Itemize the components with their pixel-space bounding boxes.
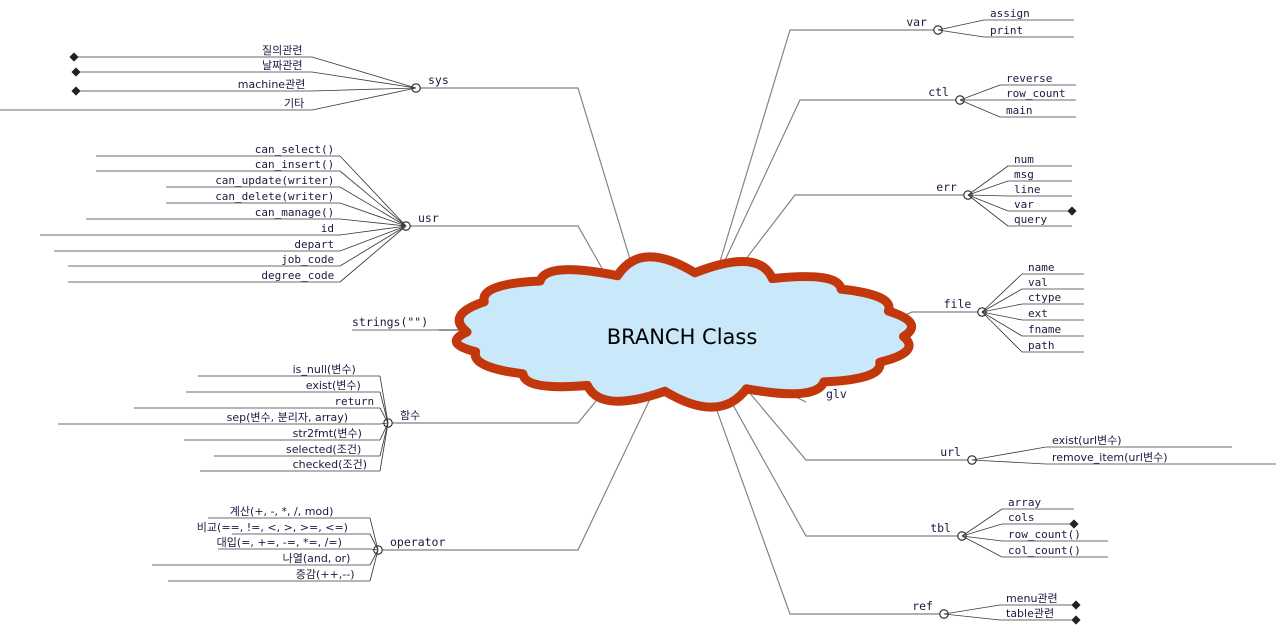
leaf-label-usr-0[interactable]: can_select() [255, 143, 334, 156]
branch-label-usr[interactable]: usr [418, 211, 439, 225]
leaf-label-err-4[interactable]: query [1014, 213, 1047, 226]
branch-label-url[interactable]: url [940, 445, 961, 459]
leaf-connector-sys-3 [312, 88, 416, 110]
leaf-connector-ctl-0 [960, 85, 1000, 100]
leaf-label-ref-1[interactable]: table관련 [1006, 607, 1054, 620]
leaf-connector-ref-1 [944, 614, 1000, 620]
leaf-connector-operator-0 [370, 518, 378, 550]
leaf-label-usr-5[interactable]: id [321, 222, 334, 235]
leaf-label-file-0[interactable]: name [1028, 261, 1055, 274]
leaf-label-tbl-0[interactable]: array [1008, 496, 1041, 509]
leaf-label-err-1[interactable]: msg [1014, 168, 1034, 181]
branch-label-err[interactable]: err [936, 180, 957, 194]
branch-label-strings[interactable]: strings("") [352, 315, 428, 329]
leaf-label-tbl-2[interactable]: row_count() [1008, 528, 1081, 541]
leaf-label-var-0[interactable]: assign [990, 7, 1030, 20]
leaf-connector-usr-8 [340, 226, 406, 282]
leaf-label-url-0[interactable]: exist(url변수) [1052, 434, 1122, 447]
branch-label-ref[interactable]: ref [912, 599, 933, 613]
leaf-connector-usr-7 [340, 226, 406, 266]
leaf-connector-usr-5 [340, 226, 406, 235]
branch-spine-tbl [718, 378, 962, 536]
leaf-connector-tbl-2 [962, 536, 1002, 541]
leaf-connector-var-1 [938, 30, 984, 37]
leaf-connector-func-1 [380, 392, 388, 423]
leaf-connector-usr-6 [340, 226, 406, 251]
leaf-connector-file-2 [982, 304, 1022, 312]
leaf-connector-file-0 [982, 274, 1022, 312]
leaf-endpoint-tbl-1[interactable] [1070, 520, 1078, 528]
leaf-label-file-2[interactable]: ctype [1028, 291, 1061, 304]
leaf-label-operator-2[interactable]: 대입(=, +=, -=, *=, /=) [217, 536, 342, 549]
leaf-connector-err-4 [968, 195, 1008, 226]
leaf-endpoint-ref-0[interactable] [1072, 601, 1080, 609]
leaf-label-sys-0[interactable]: 질의관련 [262, 44, 302, 57]
leaf-connector-tbl-0 [962, 509, 1002, 536]
leaf-label-sys-3[interactable]: 기타 [284, 97, 304, 110]
leaf-label-ref-0[interactable]: menu관련 [1006, 592, 1058, 605]
leaf-label-ctl-1[interactable]: row_count [1006, 87, 1066, 100]
leaf-label-file-3[interactable]: ext [1028, 307, 1048, 320]
leaf-connector-err-0 [968, 166, 1008, 195]
leaf-endpoint-sys-2[interactable] [72, 87, 80, 95]
leaf-label-operator-0[interactable]: 계산(+, -, *, /, mod) [230, 505, 334, 518]
branch-label-file[interactable]: file [944, 297, 972, 311]
leaf-connector-sys-2 [312, 88, 416, 91]
leaf-connector-operator-4 [370, 550, 378, 581]
leaf-connector-url-0 [972, 447, 1046, 460]
leaf-connector-sys-1 [312, 72, 416, 88]
leaf-label-func-1[interactable]: exist(변수) [306, 379, 361, 392]
leaf-connector-ref-0 [944, 605, 1000, 614]
leaf-connector-var-0 [938, 20, 984, 30]
leaf-label-usr-8[interactable]: degree_code [261, 269, 334, 282]
leaf-label-operator-1[interactable]: 비교(==, !=, <, >, >=, <=) [197, 521, 348, 534]
leaf-label-func-6[interactable]: checked(조건) [293, 458, 367, 471]
leaf-label-url-1[interactable]: remove_item(url변수) [1052, 451, 1168, 464]
leaf-label-operator-3[interactable]: 나열(and, or) [283, 552, 351, 565]
leaf-label-func-5[interactable]: selected(조건) [286, 443, 361, 456]
leaf-label-usr-2[interactable]: can_update(writer) [215, 174, 334, 187]
leaf-label-err-0[interactable]: num [1014, 153, 1034, 166]
leaf-endpoint-err-3[interactable] [1068, 207, 1076, 215]
leaf-endpoint-ref-1[interactable] [1072, 616, 1080, 624]
branch-label-tbl[interactable]: tbl [930, 521, 951, 535]
leaf-label-file-1[interactable]: val [1028, 276, 1048, 289]
leaf-label-tbl-3[interactable]: col_count() [1008, 544, 1081, 557]
mindmap-canvas: sys질의관련날짜관련machine관련기타usrcan_select()can… [0, 0, 1276, 641]
leaf-connector-usr-1 [340, 171, 406, 226]
leaf-connector-tbl-1 [962, 524, 1002, 536]
branch-spine-sys [416, 88, 640, 292]
branch-label-ctl[interactable]: ctl [928, 85, 949, 99]
branch-label-var[interactable]: var [906, 15, 927, 29]
leaf-connector-usr-0 [340, 156, 406, 226]
leaf-label-func-2[interactable]: return [334, 395, 374, 408]
leaf-connector-err-1 [968, 181, 1008, 195]
leaf-connector-func-6 [380, 423, 388, 471]
leaf-label-ctl-0[interactable]: reverse [1006, 72, 1052, 85]
leaf-label-err-2[interactable]: line [1014, 183, 1041, 196]
leaf-endpoint-sys-0[interactable] [70, 53, 78, 61]
branch-spine-var [712, 30, 938, 288]
leaf-label-sys-2[interactable]: machine관련 [238, 78, 306, 91]
branch-label-glv[interactable]: glv [826, 387, 847, 401]
leaf-connector-err-3 [968, 195, 1008, 211]
leaf-connector-tbl-3 [962, 536, 1002, 557]
leaf-label-err-3[interactable]: var [1014, 198, 1034, 211]
leaf-label-operator-4[interactable]: 증감(++,--) [296, 568, 355, 581]
leaf-label-func-4[interactable]: str2fmt(변수) [293, 427, 362, 440]
leaf-label-file-4[interactable]: fname [1028, 323, 1061, 336]
center-label: BRANCH Class [607, 325, 758, 349]
branch-label-sys[interactable]: sys [428, 73, 449, 87]
branch-label-operator[interactable]: operator [390, 535, 445, 549]
leaf-label-usr-6[interactable]: depart [294, 238, 334, 251]
leaf-label-var-1[interactable]: print [990, 24, 1023, 37]
leaf-label-func-3[interactable]: sep(변수, 분리자, array) [227, 411, 349, 424]
leaf-label-tbl-1[interactable]: cols [1008, 511, 1035, 524]
leaf-label-func-0[interactable]: is_null(변수) [293, 363, 356, 376]
leaf-label-usr-4[interactable]: can_manage() [255, 206, 334, 219]
leaf-label-file-5[interactable]: path [1028, 339, 1055, 352]
mindmap-svg: sys질의관련날짜관련machine관련기타usrcan_select()can… [0, 0, 1276, 641]
branch-label-func[interactable]: 함수 [400, 409, 420, 422]
branch-spine-ref [706, 380, 944, 614]
leaf-connector-url-1 [972, 460, 1046, 464]
leaf-connector-ctl-2 [960, 100, 1000, 117]
leaf-endpoint-sys-1[interactable] [72, 68, 80, 76]
leaf-label-usr-1[interactable]: can_insert() [255, 158, 334, 171]
leaf-connector-err-2 [968, 195, 1008, 196]
leaf-label-usr-3[interactable]: can_delete(writer) [215, 190, 334, 203]
leaf-connector-sys-0 [312, 57, 416, 88]
leaf-label-usr-7[interactable]: job_code [281, 253, 334, 266]
leaf-label-ctl-2[interactable]: main [1006, 104, 1033, 117]
leaf-label-sys-1[interactable]: 날짜관련 [262, 59, 302, 72]
